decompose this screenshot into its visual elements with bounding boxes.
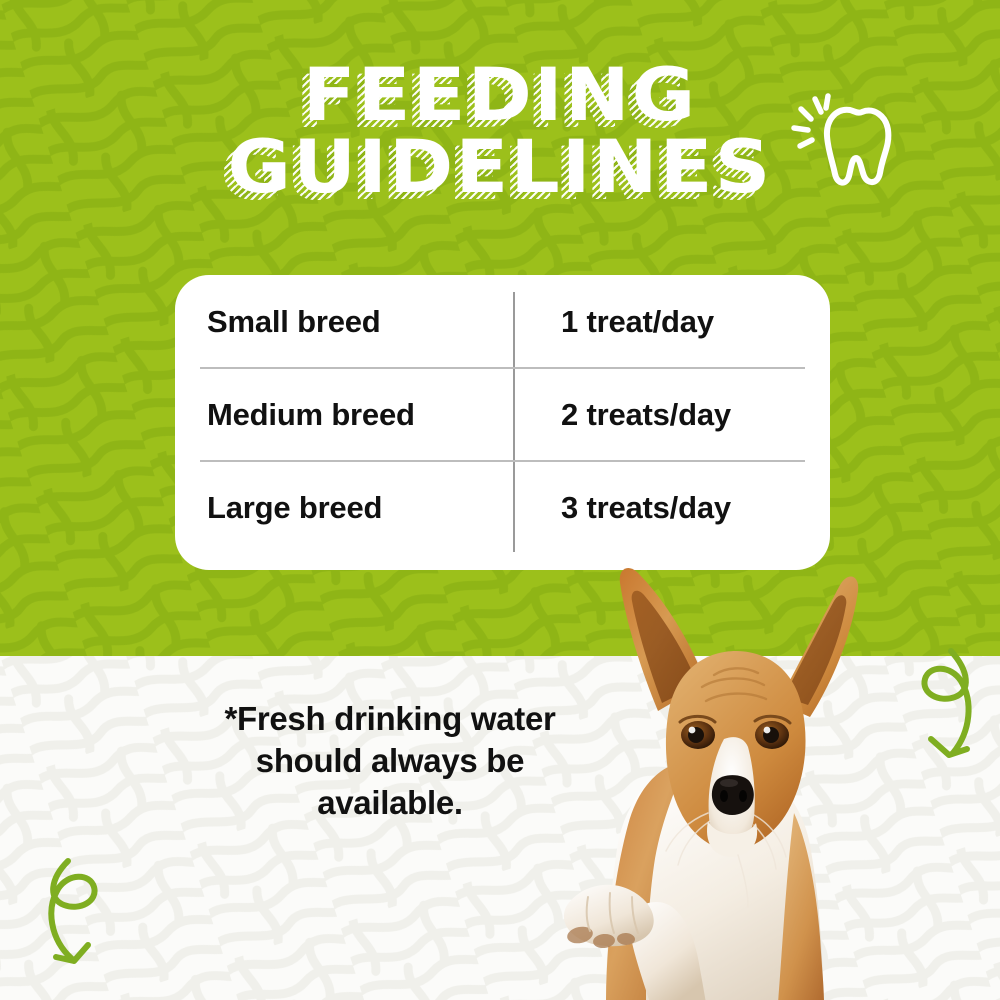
curly-arrow-down-right-icon	[22, 855, 127, 975]
table-cell-amount: 2 treats/day	[513, 397, 830, 433]
table-cell-breed: Medium breed	[175, 397, 513, 433]
table-cell-amount: 1 treat/day	[513, 304, 830, 340]
table-cell-breed: Small breed	[175, 304, 513, 340]
curly-arrow-down-left-icon	[895, 645, 995, 780]
feeding-guidelines-graphic: FEEDING GUIDELINES	[0, 0, 1000, 1000]
table-row: Small breed 1 treat/day	[175, 275, 830, 368]
tooth-sparkle-icon	[788, 88, 908, 198]
table-cell-amount: 3 treats/day	[513, 490, 830, 526]
table-cell-breed: Large breed	[175, 490, 513, 526]
table-row: Medium breed 2 treats/day	[175, 368, 830, 461]
dog-basenji-photo	[510, 525, 910, 1000]
